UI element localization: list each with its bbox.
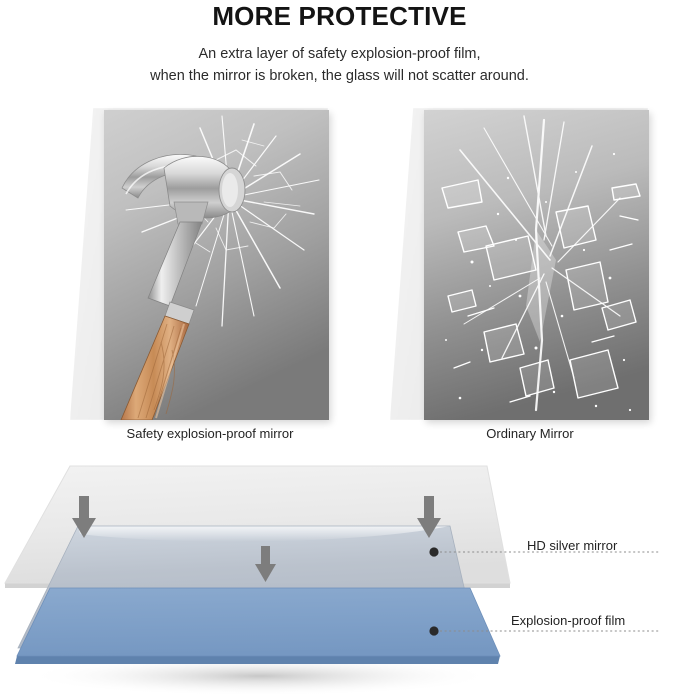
subtitle-line-2: when the mirror is broken, the glass wil…: [0, 65, 679, 87]
caption-safety-mirror: Safety explosion-proof mirror: [70, 426, 350, 441]
comparison-row: Safety explosion-proof mirror: [0, 104, 679, 454]
label-explosion-proof-film: Explosion-proof film: [511, 613, 625, 628]
comparison-panel-ordinary-mirror: Ordinary Mirror: [390, 104, 670, 454]
header: MORE PROTECTIVE An extra layer of safety…: [0, 0, 679, 87]
layer-explosion-proof-film: [15, 588, 500, 664]
safety-mirror-photo: [104, 110, 329, 420]
layer-structure-diagram: [0, 458, 679, 699]
page-title: MORE PROTECTIVE: [0, 0, 679, 31]
label-hd-silver-mirror: HD silver mirror: [527, 538, 617, 553]
ordinary-mirror-photo: [424, 110, 649, 420]
subtitle-block: An extra layer of safety explosion-proof…: [0, 43, 679, 87]
caption-ordinary-mirror: Ordinary Mirror: [390, 426, 670, 441]
subtitle-line-1: An extra layer of safety explosion-proof…: [0, 43, 679, 65]
comparison-panel-safety-mirror: Safety explosion-proof mirror: [70, 104, 350, 454]
